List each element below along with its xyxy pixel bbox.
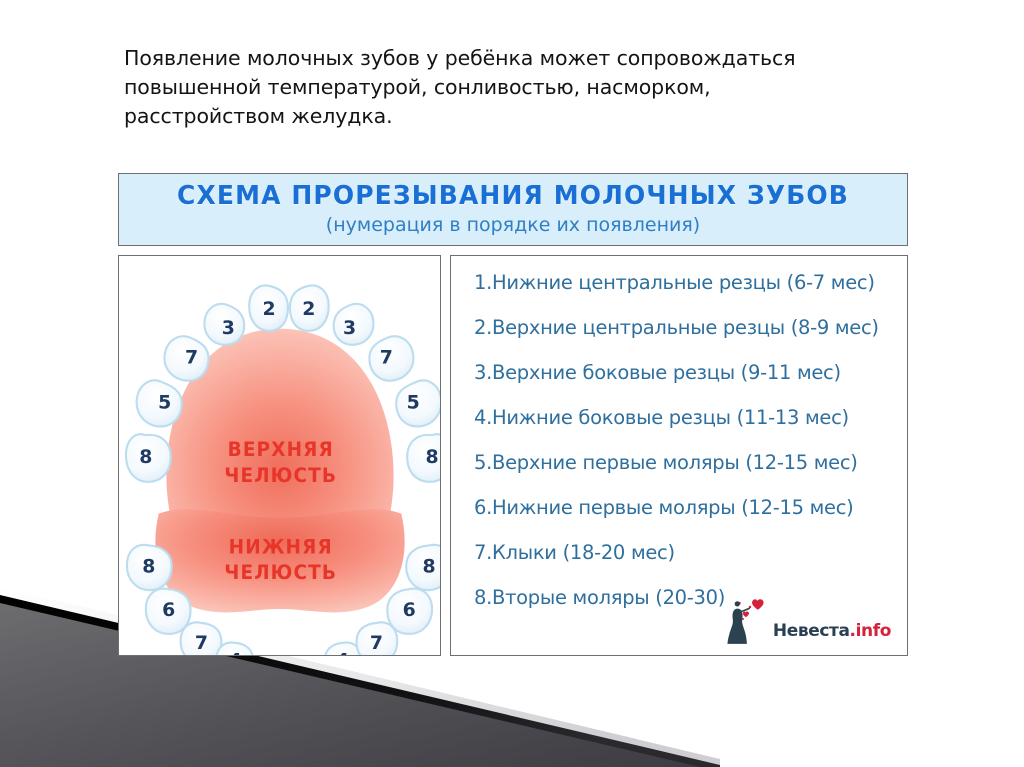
lower-tooth-2: 6 (162, 599, 175, 621)
lower-jaw-group: 8 6 7 4 1 1 4 7 6 8 (127, 509, 440, 655)
list-item: 4.Нижние боковые резцы (11-13 мес) (474, 408, 897, 428)
list-item-label: Нижние первые моляры (12-15 мес) (492, 496, 853, 519)
slide: Появление молочных зубов у ребёнка может… (0, 0, 1024, 767)
lower-tooth-8: 7 (370, 632, 383, 654)
watermark: Невеста.info (724, 593, 891, 645)
lower-tooth-7: 4 (336, 650, 349, 655)
watermark-text: Невеста.info (773, 621, 891, 645)
intro-line-2: повышенной температурой, сонливостью, на… (124, 73, 934, 102)
list-item-number: 6. (474, 496, 492, 519)
list-item-number: 2. (474, 316, 492, 339)
teething-chart-figure: СХЕМА ПРОРЕЗЫВАНИЯ МОЛОЧНЫХ ЗУБОВ (нумер… (118, 173, 908, 656)
intro-line-3: расстройством желудка. (124, 102, 934, 131)
lower-tooth-3: 7 (195, 632, 208, 654)
lower-tooth-9: 6 (403, 599, 416, 621)
upper-tooth-1: 8 (139, 446, 152, 468)
list-item: 7.Клыки (18-20 мес) (474, 543, 897, 563)
list-item-label: Верхние первые моляры (12-15 мес) (492, 451, 858, 474)
upper-tooth-5: 2 (262, 298, 275, 320)
watermark-name: Невеста (773, 621, 850, 641)
chart-panels: 8 5 7 3 2 2 3 7 5 8 (118, 255, 908, 656)
teething-order-panel: 1.Нижние центральные резцы (6-7 мес) 2.В… (450, 255, 908, 656)
list-item-label: Нижние боковые резцы (11-13 мес) (492, 406, 849, 429)
upper-tooth-7: 3 (343, 317, 356, 339)
upper-tooth-10: 8 (425, 446, 438, 468)
svg-text:НИЖНЯЯ: НИЖНЯЯ (229, 535, 333, 559)
list-item-number: 4. (474, 406, 492, 429)
jaw-diagram-panel: 8 5 7 3 2 2 3 7 5 8 (118, 255, 441, 656)
teething-order-list: 1.Нижние центральные резцы (6-7 мес) 2.В… (474, 273, 897, 633)
list-item: 6.Нижние первые моляры (12-15 мес) (474, 498, 897, 518)
chart-title: СХЕМА ПРОРЕЗЫВАНИЯ МОЛОЧНЫХ ЗУБОВ (135, 180, 891, 213)
upper-tooth-9: 5 (407, 391, 420, 413)
list-item: 5.Верхние первые моляры (12-15 мес) (474, 453, 897, 473)
upper-tooth-4: 3 (222, 317, 235, 339)
bride-icon (724, 595, 770, 645)
jaw-diagram: 8 5 7 3 2 2 3 7 5 8 (119, 256, 440, 655)
lower-tooth-10: 8 (422, 555, 435, 577)
list-item-label: Нижние центральные резцы (6-7 мес) (492, 271, 875, 294)
list-item-label: Клыки (18-20 мес) (492, 541, 675, 564)
upper-tooth-8: 7 (380, 347, 393, 369)
chart-subtitle: (нумерация в порядке их появления) (119, 214, 907, 238)
upper-tooth-3: 7 (185, 347, 198, 369)
list-item-label: Верхние боковые резцы (9-11 мес) (492, 361, 841, 384)
list-item-number: 5. (474, 451, 492, 474)
list-item-label: Вторые моляры (20-30) (492, 586, 725, 609)
chart-banner: СХЕМА ПРОРЕЗЫВАНИЯ МОЛОЧНЫХ ЗУБОВ (нумер… (118, 173, 908, 246)
svg-text:ЧЕЛЮСТЬ: ЧЕЛЮСТЬ (224, 463, 337, 487)
svg-text:ЧЕЛЮСТЬ: ЧЕЛЮСТЬ (224, 561, 337, 585)
svg-text:ВЕРХНЯЯ: ВЕРХНЯЯ (228, 437, 334, 461)
list-item-number: 8. (474, 586, 492, 609)
intro-line-1: Появление молочных зубов у ребёнка может… (124, 44, 934, 73)
list-item: 1.Нижние центральные резцы (6-7 мес) (474, 273, 897, 293)
lower-tooth-4: 4 (229, 650, 242, 655)
list-item-number: 1. (474, 271, 492, 294)
lower-tooth-1: 8 (142, 555, 155, 577)
list-item: 2.Верхние центральные резцы (8-9 мес) (474, 318, 897, 338)
list-item: 3.Верхние боковые резцы (9-11 мес) (474, 363, 897, 383)
list-item-number: 3. (474, 361, 492, 384)
list-item-label: Верхние центральные резцы (8-9 мес) (492, 316, 879, 339)
watermark-domain: .info (850, 621, 891, 641)
upper-tooth-2: 5 (158, 391, 171, 413)
intro-paragraph: Появление молочных зубов у ребёнка может… (124, 44, 934, 131)
upper-tooth-6: 2 (302, 298, 315, 320)
list-item-number: 7. (474, 541, 492, 564)
